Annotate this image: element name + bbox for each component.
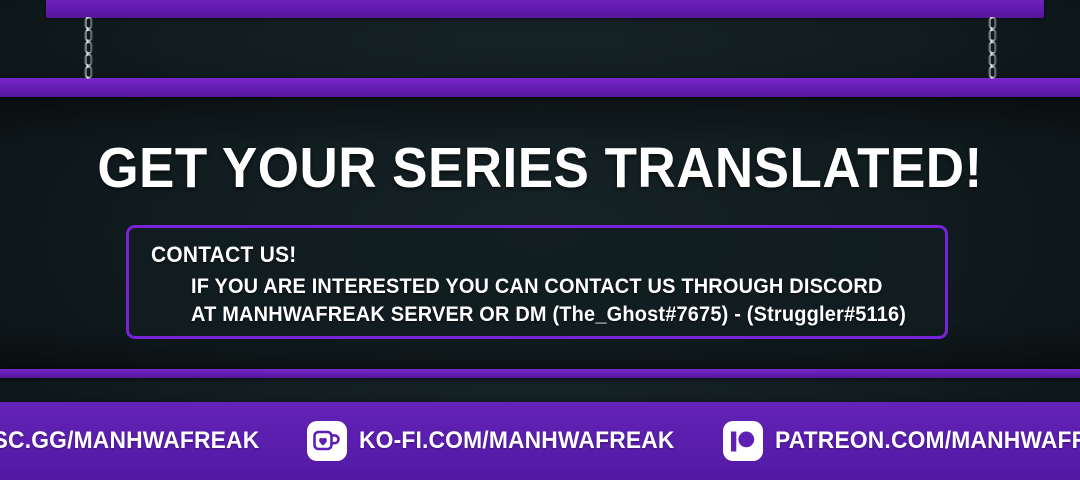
patreon-icon — [723, 421, 763, 461]
footer-social-bar: DSC.GG/MANHWAFREAK KO-FI.COM/MANHWAFREAK… — [0, 402, 1080, 480]
social-label-kofi: KO-FI.COM/MANHWAFREAK — [359, 427, 675, 455]
kofi-icon — [307, 421, 347, 461]
contact-line-2: AT MANHWAFREAK SERVER OR DM (The_Ghost#7… — [191, 303, 907, 327]
background-panel-lower — [0, 377, 1080, 402]
contact-line-1: IF YOU ARE INTERESTED YOU CAN CONTACT US… — [191, 275, 907, 299]
social-link-kofi[interactable]: KO-FI.COM/MANHWAFREAK — [291, 421, 707, 461]
social-label-discord: DSC.GG/MANHWAFREAK — [0, 427, 260, 455]
social-link-patreon[interactable]: PATREON.COM/MANHWAFREAK — [707, 421, 1080, 461]
page-title: GET YOUR SERIES TRANSLATED! — [38, 135, 1042, 201]
contact-heading: CONTACT US! — [151, 242, 905, 268]
purple-bar-second — [0, 78, 1080, 97]
chain-icon — [987, 17, 998, 80]
credits-banner: GET YOUR SERIES TRANSLATED! CONTACT US! … — [0, 0, 1080, 480]
purple-bar-third — [0, 369, 1080, 378]
social-label-patreon: PATREON.COM/MANHWAFREAK — [775, 427, 1080, 455]
contact-info-box: CONTACT US! IF YOU ARE INTERESTED YOU CA… — [126, 225, 948, 339]
chain-icon — [83, 17, 94, 80]
social-link-discord[interactable]: DSC.GG/MANHWAFREAK — [0, 421, 291, 461]
purple-bar-top — [46, 0, 1044, 18]
